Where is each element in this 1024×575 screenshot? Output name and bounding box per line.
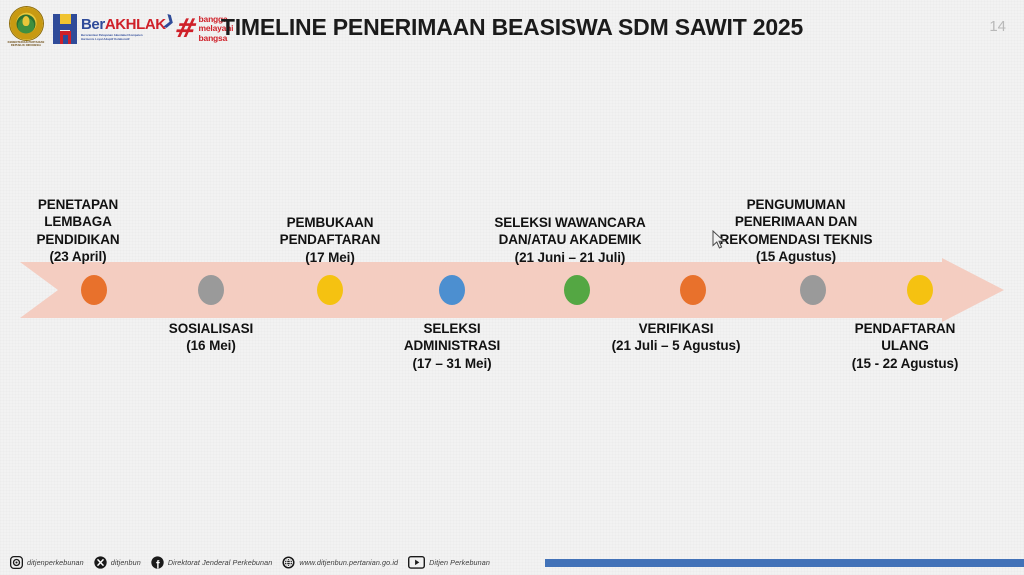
timeline-milestone-label: PENGUMUMAN PENERIMAAN DAN REKOMENDASI TE… <box>720 196 873 265</box>
slide-canvas: KEMENTERIAN PERTANIAN REPUBLIK INDONESIA… <box>0 0 1024 575</box>
footer-social-item[interactable]: Direktorat Jenderal Perkebunan <box>151 556 272 569</box>
timeline-dot <box>439 275 465 305</box>
timeline-dot <box>564 275 590 305</box>
x-twitter-icon <box>94 556 107 569</box>
timeline-milestone-label: PENDAFTARAN ULANG (15 - 22 Agustus) <box>852 320 959 372</box>
mouse-cursor <box>712 230 726 250</box>
facebook-icon <box>151 556 164 569</box>
timeline-dot <box>317 275 343 305</box>
timeline-dot <box>198 275 224 305</box>
globe-icon <box>282 556 295 569</box>
timeline-dot <box>800 275 826 305</box>
timeline-milestone-label: VERIFIKASI (21 Juli – 5 Agustus) <box>612 320 741 355</box>
timeline-dot <box>907 275 933 305</box>
footer-social-handle: www.ditjenbun.pertanian.go.id <box>299 558 398 567</box>
youtube-icon <box>408 556 425 569</box>
footer-social-item[interactable]: ditjenperkebunan <box>10 556 84 569</box>
ministry-logo-caption: KEMENTERIAN PERTANIAN REPUBLIK INDONESIA <box>8 41 45 47</box>
page-number: 14 <box>989 18 1006 35</box>
footer-social-handle: Direktorat Jenderal Perkebunan <box>168 558 272 567</box>
timeline-arrow-shape <box>20 258 1004 322</box>
timeline-milestone-label: PENETAPAN LEMBAGA PENDIDIKAN (23 April) <box>36 196 119 265</box>
timeline-milestone-label: SOSIALISASI (16 Mei) <box>169 320 253 355</box>
page-title: TIMELINE PENERIMAAN BEASISWA SDM SAWIT 2… <box>0 14 1024 41</box>
footer-social-handle: ditjenperkebunan <box>27 558 84 567</box>
footer-social-item[interactable]: ditjenbun <box>94 556 141 569</box>
footer-social-item[interactable]: www.ditjenbun.pertanian.go.id <box>282 556 398 569</box>
timeline-dot <box>680 275 706 305</box>
timeline-dot <box>81 275 107 305</box>
timeline-milestone-label: PEMBUKAAN PENDAFTARAN (17 Mei) <box>280 214 381 266</box>
footer-social-handle: Ditjen Perkebunan <box>429 558 490 567</box>
footer-accent-bar <box>545 559 1024 567</box>
footer-social-item[interactable]: Ditjen Perkebunan <box>408 556 490 569</box>
timeline-graphic: PENETAPAN LEMBAGA PENDIDIKAN (23 April)S… <box>0 0 1024 575</box>
timeline-milestone-label: SELEKSI WAWANCARA DAN/ATAU AKADEMIK (21 … <box>494 214 645 266</box>
instagram-icon <box>10 556 23 569</box>
timeline-milestone-label: SELEKSI ADMINISTRASI (17 – 31 Mei) <box>404 320 500 372</box>
footer-social-handle: ditjenbun <box>111 558 141 567</box>
